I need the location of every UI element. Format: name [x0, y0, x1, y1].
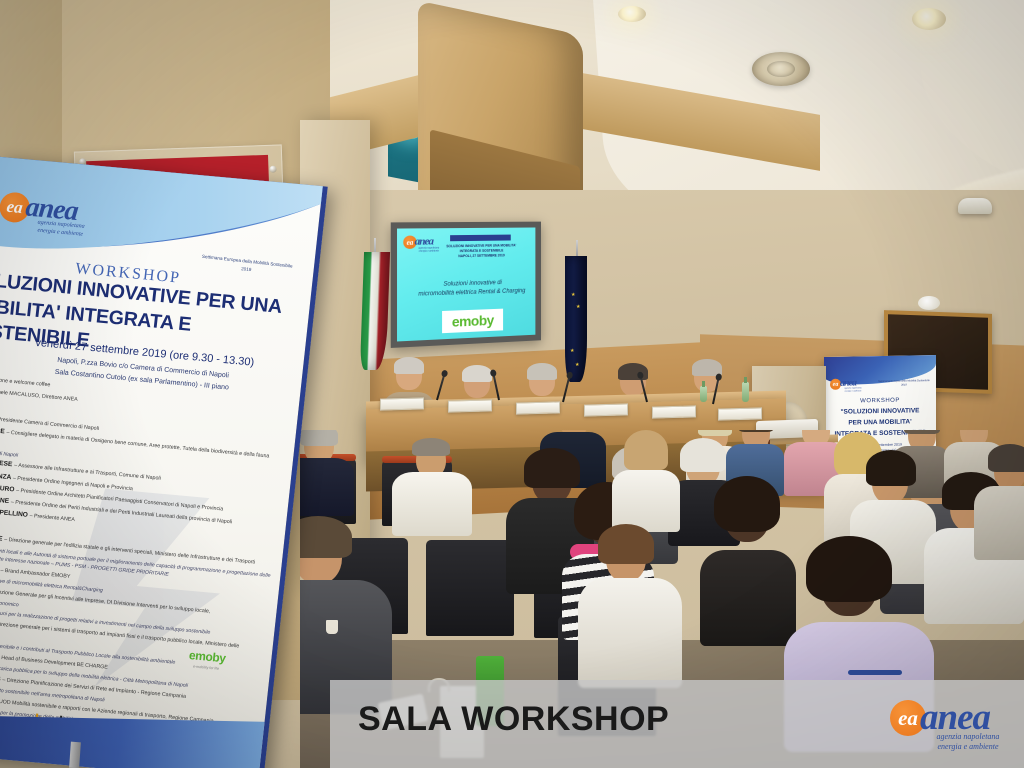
projection-screen: ea anea agenzia napoletanaenergia e ambi… — [397, 227, 535, 341]
slide-anea-logo: ea anea agenzia napoletanaenergia e ambi… — [403, 235, 444, 254]
room-scene: ea anea agenzia napoletanaenergia e ambi… — [0, 0, 1024, 768]
banner-anea-logo: ea anea agenzia napoletanaenergia e ambi… — [890, 696, 1012, 756]
projection-screen-frame: ea anea agenzia napoletanaenergia e ambi… — [391, 222, 541, 348]
lanyard — [848, 670, 902, 675]
water-bottle — [700, 386, 707, 402]
emoby-wordmark: emoby — [188, 648, 226, 665]
rollup-anea-logo: ea anea agenzia napoletanaenergia e ambi… — [830, 378, 864, 393]
poster-program-list: 9.30 Registrazione e welcome coffeeModer… — [0, 372, 290, 764]
name-placard — [652, 405, 696, 418]
air-diffuser-icon — [752, 52, 810, 86]
anea-tagline: agenzia napoletanaenergia e ambiente — [922, 732, 1014, 752]
slide-header-band — [450, 235, 511, 242]
slide-subtitle: Soluzioni innovative di micromobilità el… — [407, 278, 535, 300]
poster-week-badge: Settimana Europea della Mobilità Sosteni… — [200, 253, 293, 278]
downlight-icon — [912, 8, 946, 30]
slide-emoby-wordmark: emoby — [452, 312, 494, 330]
slide-title-line3: NAPOLI, 27 SETTEMBRE 2019 — [442, 253, 520, 259]
slide-emoby-logo: emoby — [442, 309, 503, 334]
program-speaker-role: Registrazione e welcome coffee — [0, 376, 51, 389]
downlight-icon — [618, 6, 646, 22]
name-placard — [516, 401, 560, 414]
banner-title: SALA WORKSHOP — [358, 700, 669, 739]
poster-bottom-band — [0, 715, 277, 768]
bottom-banner: SALA WORKSHOP ea anea agenzia napoletana… — [330, 680, 1024, 768]
flag-eu-icon: ★ ★ ★ ★ — [565, 256, 587, 382]
anea-tagline: agenzia napoletanaenergia e ambiente — [415, 246, 443, 253]
screw-icon — [269, 166, 276, 173]
program-speaker-role: – Presidente ANEA — [29, 513, 75, 523]
poster-stand — [69, 742, 81, 768]
name-placard — [718, 407, 762, 420]
rollup-title-line1: "SOLUZIONI INNOVATIVE — [828, 405, 932, 418]
chair — [426, 540, 514, 636]
slide-title: SOLUZIONI INNOVATIVE PER UNA MOBILITA' I… — [442, 243, 520, 259]
name-placard — [380, 397, 424, 410]
anea-tagline: agenzia napoletanaenergia e ambiente — [840, 387, 866, 393]
rollup-week-badge: Settimana Europea della Mobilità Sosteni… — [876, 379, 932, 388]
name-placard — [448, 399, 492, 412]
coffee-cup — [326, 620, 338, 634]
water-bottle — [742, 382, 749, 402]
conference-photo: ea anea agenzia napoletanaenergia e ambi… — [0, 0, 1024, 768]
wall-light-icon — [958, 198, 992, 214]
poster-anea-logo: ea anea agenzia napoletanaenergia e ambi… — [0, 191, 97, 241]
wall-light-icon — [918, 296, 940, 310]
name-placard — [584, 403, 628, 416]
